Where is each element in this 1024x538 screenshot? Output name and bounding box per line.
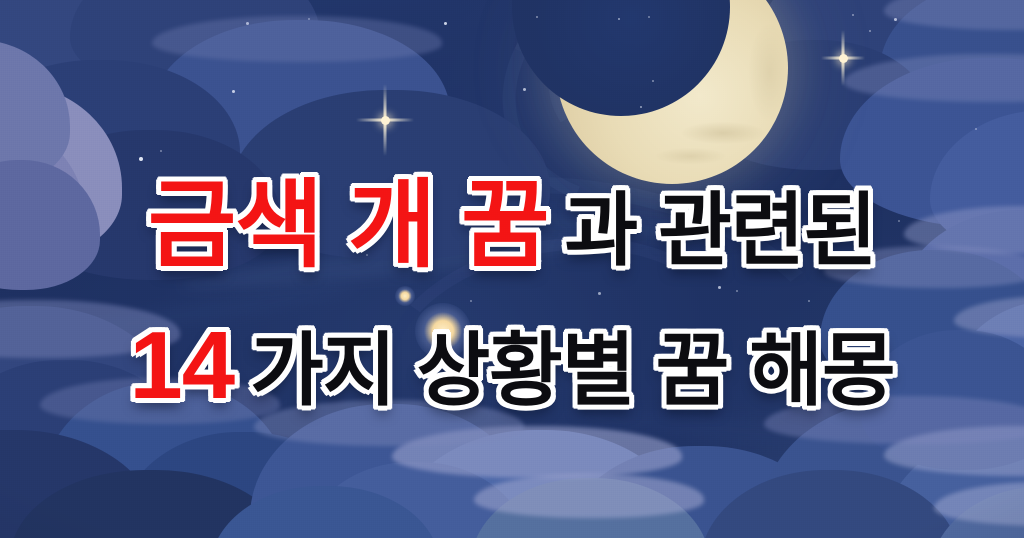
headline-keyword-red-1: 금색 개 꿈 — [148, 178, 549, 274]
headline-text-black-1: 과 관련된 — [564, 191, 876, 271]
headline-line-1: 금색 개 꿈과 관련된 — [0, 178, 1024, 274]
headline-text-black-2: 가지 상황별 꿈 해몽 — [250, 331, 894, 411]
thumbnail-canvas: 금색 개 꿈과 관련된 14가지 상황별 꿈 해몽 — [0, 0, 1024, 538]
headline-count-red-2: 14 — [129, 318, 234, 414]
headline-line-2: 14가지 상황별 꿈 해몽 — [0, 318, 1024, 414]
crescent-moon — [556, 0, 788, 184]
